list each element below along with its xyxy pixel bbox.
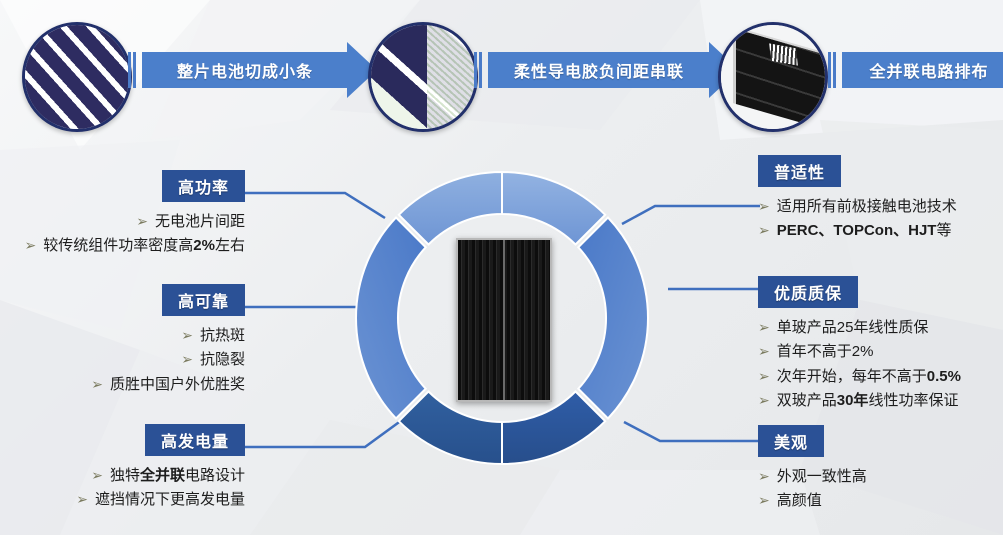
feature-bullets-high-power: ➢无电池片间距 ➢较传统组件功率密度高2%左右 bbox=[0, 210, 245, 259]
process-banner-1: 柔性导电胶负间距串联 bbox=[474, 52, 739, 88]
process-label-2: 全并联电路排布 bbox=[842, 52, 1003, 88]
bullet-arrow-icon: ➢ bbox=[758, 222, 770, 238]
conductive-adhesive-icon bbox=[371, 25, 475, 129]
process-banner-2: 全并联电路排布 bbox=[828, 52, 1003, 88]
list-item: ➢高颜值 bbox=[758, 489, 1003, 513]
feature-block-warranty: 优质质保 ➢单玻产品25年线性质保 ➢首年不高于2% ➢次年开始，每年不高于0.… bbox=[758, 276, 1003, 413]
process-banner-0: 整片电池切成小条 bbox=[128, 52, 377, 88]
bullet-arrow-icon: ➢ bbox=[136, 213, 148, 229]
ring-segment-1 bbox=[502, 172, 605, 245]
feature-block-high-reliability: 高可靠 ➢抗热斑 ➢抗隐裂 ➢质胜中国户外优胜奖 bbox=[0, 284, 245, 397]
feature-bullets-high-reliability: ➢抗热斑 ➢抗隐裂 ➢质胜中国户外优胜奖 bbox=[0, 324, 245, 397]
bullet-arrow-icon: ➢ bbox=[758, 319, 770, 335]
feature-bullets-warranty: ➢单玻产品25年线性质保 ➢首年不高于2% ➢次年开始，每年不高于0.5% ➢双… bbox=[758, 316, 1003, 413]
parallel-circuit-module-icon bbox=[721, 25, 825, 129]
bullet-arrow-icon: ➢ bbox=[758, 343, 770, 359]
bullet-arrow-icon: ➢ bbox=[91, 376, 103, 392]
list-item: ➢遮挡情况下更高发电量 bbox=[0, 488, 245, 512]
bullet-arrow-icon: ➢ bbox=[25, 237, 37, 253]
feature-title-high-yield: 高发电量 bbox=[145, 424, 245, 456]
feature-title-aesthetics: 美观 bbox=[758, 425, 824, 457]
shingled-solar-panel-image bbox=[456, 238, 552, 402]
bullet-arrow-icon: ➢ bbox=[91, 467, 103, 483]
list-item: ➢首年不高于2% bbox=[758, 340, 1003, 364]
bullet-arrow-icon: ➢ bbox=[181, 327, 193, 343]
process-label-0: 整片电池切成小条 bbox=[142, 52, 348, 88]
bullet-arrow-icon: ➢ bbox=[758, 368, 770, 384]
feature-title-high-reliability: 高可靠 bbox=[162, 284, 245, 316]
feature-block-high-yield: 高发电量 ➢独特全并联电路设计 ➢遮挡情况下更高发电量 bbox=[0, 424, 245, 513]
process-icon-0 bbox=[22, 22, 132, 132]
process-icon-2 bbox=[718, 22, 828, 132]
feature-title-universality: 普适性 bbox=[758, 155, 841, 187]
ring-segment-0 bbox=[399, 172, 502, 245]
feature-block-aesthetics: 美观 ➢外观一致性高 ➢高颜值 bbox=[758, 425, 1003, 514]
list-item: ➢无电池片间距 bbox=[0, 210, 245, 234]
list-item: ➢外观一致性高 bbox=[758, 465, 1003, 489]
bullet-arrow-icon: ➢ bbox=[758, 492, 770, 508]
sliced-solar-cell-icon bbox=[25, 25, 129, 129]
feature-block-high-power: 高功率 ➢无电池片间距 ➢较传统组件功率密度高2%左右 bbox=[0, 170, 245, 259]
ring-segment-4 bbox=[399, 392, 502, 465]
list-item: ➢抗隐裂 bbox=[0, 348, 245, 372]
bullet-arrow-icon: ➢ bbox=[76, 491, 88, 507]
process-label-1: 柔性导电胶负间距串联 bbox=[488, 52, 710, 88]
ring-segment-5 bbox=[502, 392, 605, 465]
bullet-arrow-icon: ➢ bbox=[758, 392, 770, 408]
list-item: ➢抗热斑 bbox=[0, 324, 245, 348]
list-item: ➢较传统组件功率密度高2%左右 bbox=[0, 234, 245, 258]
banner-stripes-icon bbox=[828, 52, 838, 88]
bullet-arrow-icon: ➢ bbox=[758, 468, 770, 484]
list-item: ➢单玻产品25年线性质保 bbox=[758, 316, 1003, 340]
feature-bullets-universality: ➢适用所有前极接触电池技术 ➢PERC、TOPCon、HJT等 bbox=[758, 195, 1003, 244]
process-icon-1 bbox=[368, 22, 478, 132]
bullet-arrow-icon: ➢ bbox=[181, 351, 193, 367]
list-item: ➢适用所有前极接触电池技术 bbox=[758, 195, 1003, 219]
center-ring-diagram bbox=[352, 168, 652, 468]
ring-segment-2 bbox=[356, 218, 426, 419]
list-item: ➢独特全并联电路设计 bbox=[0, 464, 245, 488]
infographic-canvas: 整片电池切成小条 柔性导电胶负间距串联 全并联电路排布 bbox=[0, 0, 1003, 535]
list-item: ➢质胜中国户外优胜奖 bbox=[0, 373, 245, 397]
feature-title-warranty: 优质质保 bbox=[758, 276, 858, 308]
feature-bullets-high-yield: ➢独特全并联电路设计 ➢遮挡情况下更高发电量 bbox=[0, 464, 245, 513]
feature-bullets-aesthetics: ➢外观一致性高 ➢高颜值 bbox=[758, 465, 1003, 514]
feature-title-high-power: 高功率 bbox=[162, 170, 245, 202]
ring-segment-3 bbox=[578, 218, 648, 419]
banner-stripes-icon bbox=[474, 52, 484, 88]
feature-block-universality: 普适性 ➢适用所有前极接触电池技术 ➢PERC、TOPCon、HJT等 bbox=[758, 155, 1003, 244]
list-item: ➢PERC、TOPCon、HJT等 bbox=[758, 219, 1003, 243]
banner-stripes-icon bbox=[128, 52, 138, 88]
list-item: ➢双玻产品30年线性功率保证 bbox=[758, 389, 1003, 413]
bullet-arrow-icon: ➢ bbox=[758, 198, 770, 214]
list-item: ➢次年开始，每年不高于0.5% bbox=[758, 365, 1003, 389]
